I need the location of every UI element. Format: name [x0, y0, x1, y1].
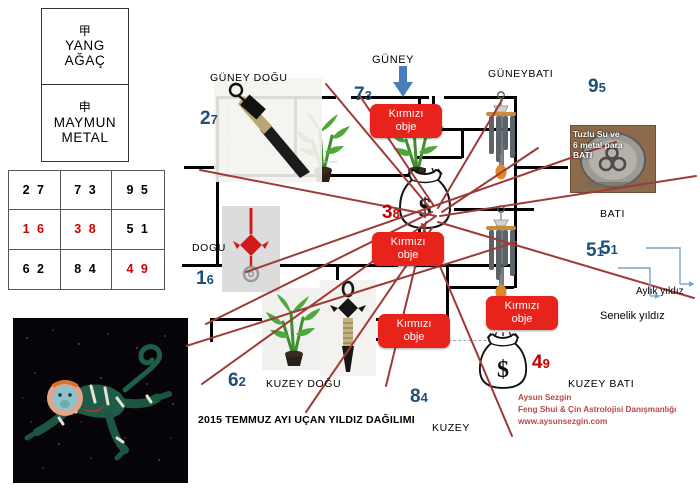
- pillar-bottom-line1: MAYMUN: [54, 115, 117, 130]
- legend-label-annual: Senelik yıldız: [600, 310, 665, 322]
- grid-cell: 4 9: [112, 250, 164, 289]
- star-pair-south: 73: [354, 84, 372, 106]
- wind-chime-icon: [476, 204, 526, 302]
- south-direction-marker: GÜNEY: [372, 54, 414, 66]
- grid-cell: 1 6: [9, 210, 61, 249]
- monkey-zodiac-image: [13, 318, 188, 483]
- star-pair-southeast: 27: [200, 108, 218, 130]
- arrow-down-icon: [392, 66, 414, 98]
- annual-star: 7: [354, 84, 365, 105]
- annual-star: 2: [200, 108, 211, 129]
- red-object-box-center[interactable]: Kırmızı obje: [372, 232, 444, 266]
- wall-segment: [461, 128, 464, 158]
- sector-label-dogu: DOGU: [192, 242, 226, 254]
- credits-block: Aysun Sezgin Feng Shui & Çin Astrolojisi…: [518, 392, 676, 428]
- credit-site[interactable]: www.aysunsezgin.com: [518, 416, 676, 428]
- annual-star: 9: [588, 76, 599, 97]
- credit-role: Feng Shui & Çin Astrolojisi Danışmanlığı: [518, 404, 676, 416]
- salt-bowl-caption: Tuzlu Su ve 6 metal para BATI: [573, 129, 653, 161]
- feng-shui-sword-icon: [214, 78, 322, 182]
- money-bag-icon: $: [398, 168, 452, 232]
- grid-cell: 8 4: [61, 250, 113, 289]
- red-knot-tassel-icon: [222, 206, 280, 292]
- sector-label-bati: BATI: [600, 208, 625, 220]
- sector-label-kuzey-dogu: KUZEY DOĞU: [266, 378, 341, 390]
- salt-water-cure-image: Tuzlu Su ve 6 metal para BATI: [570, 125, 656, 193]
- sector-label-guneybati: GÜNEYBATI: [488, 68, 553, 80]
- red-box-line2: obje: [384, 331, 444, 344]
- grid-cell: 5 1: [112, 210, 164, 249]
- salt-bowl-caption-l2: 6 metal para: [573, 140, 653, 151]
- flying-star-floorplan: www.resim.com: [186, 56, 700, 446]
- legend-label-monthly: Aylık yıldız: [636, 286, 684, 297]
- svg-text:$: $: [497, 357, 509, 383]
- monthly-star: 6: [207, 272, 214, 287]
- legend-sample-star: 51: [586, 240, 604, 262]
- monkey-illustration: [13, 318, 188, 483]
- annual-star: 4: [532, 352, 543, 373]
- money-bag-icon: $: [478, 332, 528, 392]
- flying-star-grid: 2 7 7 3 9 5 1 6 3 8 5 1 6 2 8 4 4 9: [8, 170, 165, 290]
- monthly-star: 4: [421, 390, 428, 405]
- credit-name: Aysun Sezgin: [518, 392, 676, 404]
- grid-cell: 2 7: [9, 171, 61, 210]
- grid-cell: 6 2: [9, 250, 61, 289]
- red-object-box-south[interactable]: Kırmızı obje: [370, 104, 442, 138]
- wall-segment: [210, 318, 213, 342]
- sector-label-kuzey-bati: KUZEY BATI: [568, 378, 634, 390]
- pillar-cell-maymun-metal: 申 MAYMUN METAL: [42, 85, 128, 161]
- legend-monthly-star: 1: [597, 244, 604, 259]
- wall-segment: [184, 166, 218, 169]
- pillar-cell-yang-agac: 甲 YANG AĞAÇ: [42, 9, 128, 85]
- annual-star: 1: [196, 268, 207, 289]
- wall-segment: [210, 318, 270, 321]
- annual-star: 6: [228, 370, 239, 391]
- sector-label-guney: GÜNEY: [372, 54, 414, 66]
- star-pair-east: 16: [196, 268, 214, 290]
- star-pair-southwest: 95: [588, 76, 606, 98]
- red-box-line2: obje: [376, 121, 436, 134]
- wind-chime-icon: [476, 90, 526, 182]
- hanzi-jia: 甲: [79, 25, 92, 38]
- coin-sword-cure-icon: [320, 280, 376, 376]
- annual-star: 3: [382, 202, 393, 223]
- red-box-line1: Kırmızı: [384, 318, 444, 331]
- red-box-line1: Kırmızı: [376, 108, 436, 121]
- monthly-star: 8: [393, 206, 400, 221]
- salt-bowl-caption-l1: Tuzlu Su ve: [573, 129, 653, 140]
- sector-label-kuzey: KUZEY: [432, 422, 470, 434]
- lucky-bamboo-plant-icon: [262, 288, 326, 370]
- sector-label-guney-dogu: GÜNEY DOĞU: [210, 72, 288, 84]
- star-pair-center: 38: [382, 202, 400, 224]
- monthly-star: 3: [365, 88, 372, 103]
- monthly-star: 5: [599, 80, 606, 95]
- legend-annual-star: 5: [586, 240, 597, 261]
- svg-text:$: $: [419, 193, 432, 222]
- hanzi-shen: 申: [79, 101, 92, 114]
- pillar-top-line2: AĞAÇ: [65, 53, 106, 68]
- page-title: 2015 TEMMUZ AYI UÇAN YILDIZ DAĞILIMI: [198, 414, 415, 426]
- grid-cell: 7 3: [61, 171, 113, 210]
- red-object-box-north[interactable]: Kırmızı obje: [378, 314, 450, 348]
- red-box-line2: obje: [378, 249, 438, 262]
- red-box-line2: obje: [492, 313, 552, 326]
- salt-bowl-caption-l3: BATI: [573, 150, 653, 161]
- pillar-box: 甲 YANG AĞAÇ 申 MAYMUN METAL: [41, 8, 129, 162]
- star-legend: 51 Aylık yıldız Senelik yıldız: [586, 240, 700, 332]
- star-pair-northeast: 62: [228, 370, 246, 392]
- pillar-top-line1: YANG: [65, 38, 105, 53]
- red-object-box-southwest[interactable]: Kırmızı obje: [486, 296, 558, 330]
- grid-cell: 3 8: [61, 210, 113, 249]
- monthly-star: 7: [211, 112, 218, 127]
- monthly-star: 9: [543, 356, 550, 371]
- red-box-line1: Kırmızı: [492, 300, 552, 313]
- monthly-star: 2: [239, 374, 246, 389]
- pillar-bottom-line2: METAL: [61, 130, 108, 145]
- star-pair-northwest: 49: [532, 352, 550, 374]
- star-pair-north: 84: [410, 386, 428, 408]
- red-box-line1: Kırmızı: [378, 236, 438, 249]
- grid-cell: 9 5: [112, 171, 164, 210]
- wall-segment: [182, 264, 218, 267]
- annual-star: 8: [410, 386, 421, 407]
